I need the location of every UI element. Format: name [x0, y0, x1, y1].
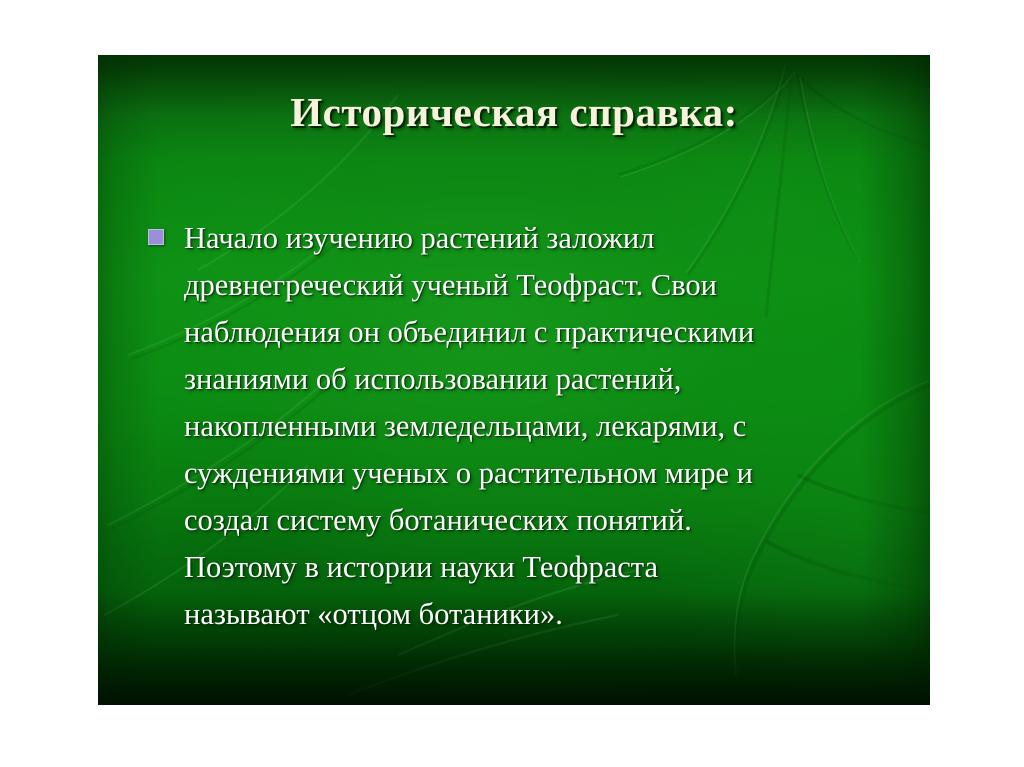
- slide-content: Историческая справка: Начало изучению ра…: [98, 55, 930, 705]
- text-line: знаниями об использовании растений,: [184, 356, 888, 403]
- text-line: древнегреческий ученый Теофраст. Свои: [184, 262, 888, 309]
- slide-page: Историческая справка: Начало изучению ра…: [0, 0, 1024, 767]
- text-line: накопленными земледельцами, лекарями, с: [184, 403, 888, 450]
- text-line: называют «отцом ботаники».: [184, 591, 888, 638]
- text-line: наблюдения он объединил с практическими: [184, 309, 888, 356]
- text-line: Начало изучению растений заложил: [184, 215, 888, 262]
- bullet-paragraph: Начало изучению растений заложил древнег…: [184, 215, 888, 638]
- text-line: создал систему ботанических понятий.: [184, 497, 888, 544]
- text-line: Поэтому в истории науки Теофраста: [184, 544, 888, 591]
- slide-title: Историческая справка:: [98, 88, 930, 136]
- text-line: суждениями ученых о растительном мире и: [184, 450, 888, 497]
- bullet-list-item: Начало изучению растений заложил древнег…: [148, 215, 888, 638]
- presentation-slide: Историческая справка: Начало изучению ра…: [98, 55, 930, 705]
- square-bullet-icon: [148, 229, 164, 245]
